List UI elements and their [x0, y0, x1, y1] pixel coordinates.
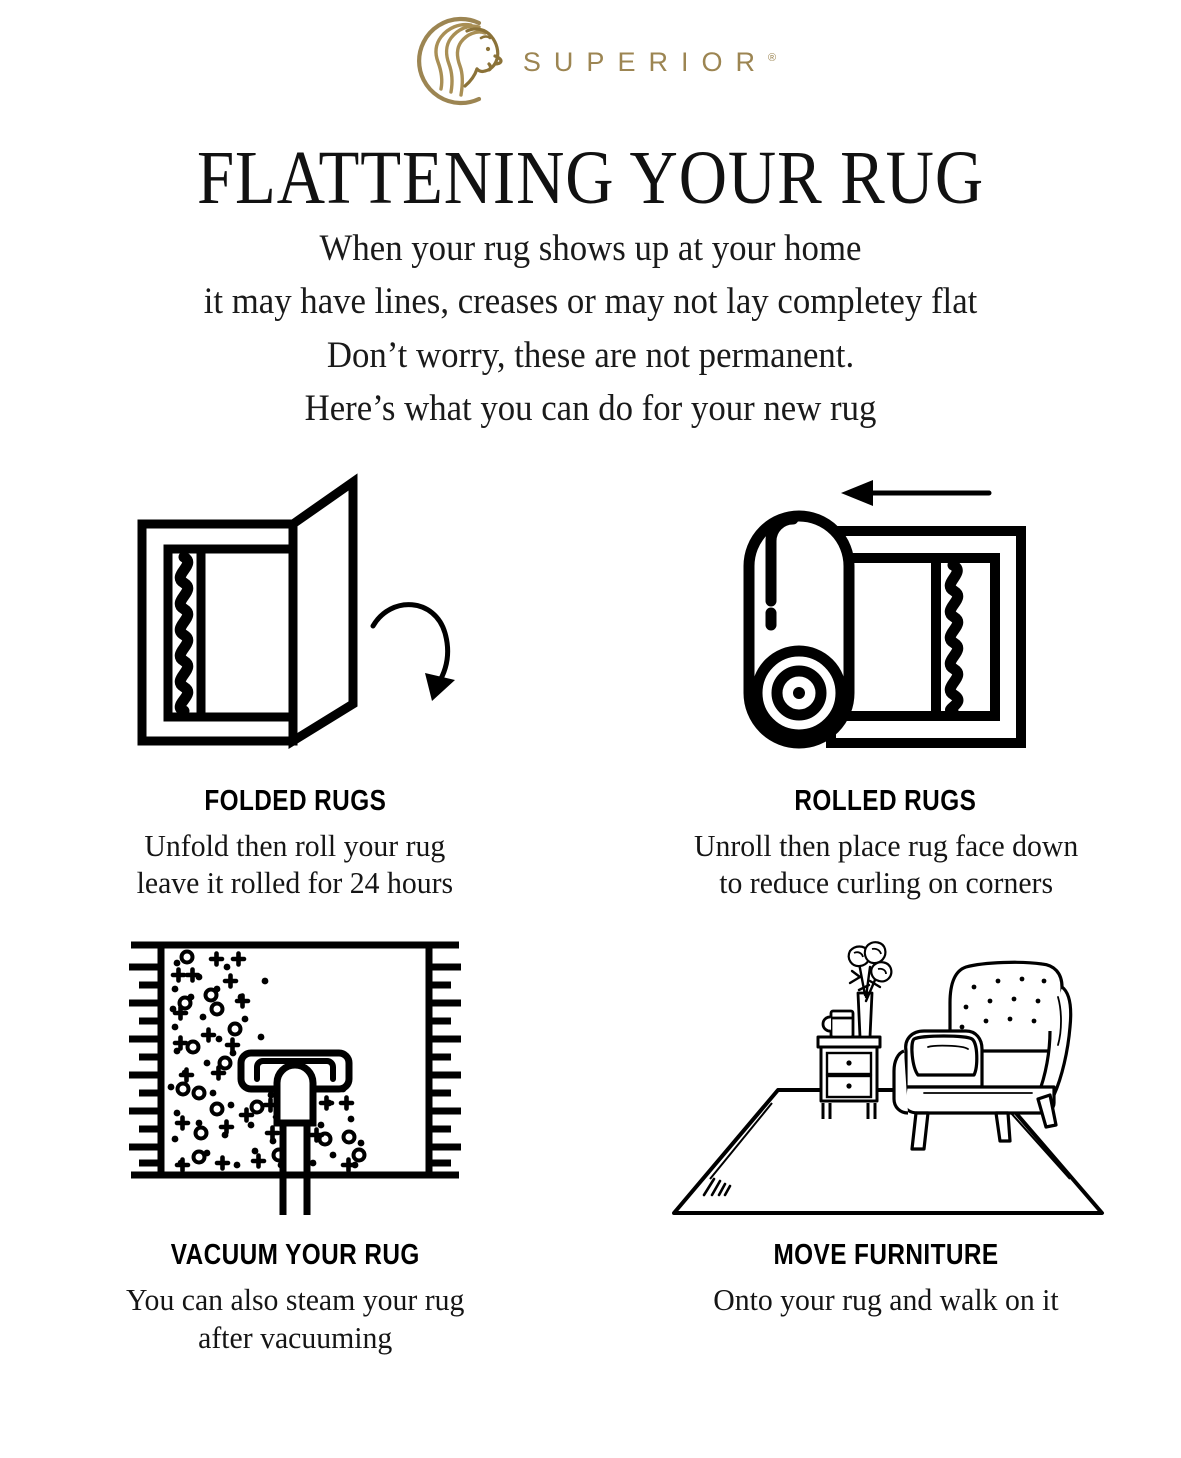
brand-wordmark: SUPERIOR®	[523, 47, 776, 78]
tip-card-folded-rugs: FOLDED RUGS Unfold then roll your rug le…	[0, 461, 591, 901]
furniture-on-rug-illustration	[666, 927, 1106, 1227]
vacuum-rug-illustration	[115, 927, 475, 1227]
tip-card-move-furniture: MOVE FURNITURE Onto your rug and walk on…	[591, 927, 1181, 1355]
tip-card-caption: Unroll then place rug face down to reduc…	[694, 827, 1078, 901]
caption-line: Unfold then roll your rug	[137, 827, 454, 864]
folded-rug-icon	[105, 461, 485, 773]
registered-mark: ®	[768, 52, 776, 64]
brand-header: SUPERIOR®	[0, 0, 1181, 118]
caption-line: after vacuuming	[126, 1319, 464, 1356]
tip-card-title: MOVE FURNITURE	[773, 1239, 998, 1272]
furniture-on-rug-icon	[666, 927, 1106, 1227]
page-title: FLATTENING YOUR RUG	[71, 140, 1110, 216]
caption-line: You can also steam your rug	[126, 1281, 464, 1318]
intro-line-3: Don’t worry, these are not permanent.	[35, 329, 1145, 382]
intro-paragraph: When your rug shows up at your home it m…	[35, 222, 1145, 435]
tip-card-title: FOLDED RUGS	[204, 785, 386, 818]
intro-line-4: Here’s what you can do for your new rug	[35, 382, 1145, 435]
caption-line: Onto your rug and walk on it	[713, 1281, 1058, 1318]
folded-rug-illustration	[105, 461, 485, 773]
intro-line-2: it may have lines, creases or may not la…	[35, 275, 1145, 328]
caption-line: leave it rolled for 24 hours	[137, 864, 454, 901]
intro-line-1: When your rug shows up at your home	[35, 222, 1145, 275]
rolled-rug-illustration	[721, 461, 1051, 773]
caption-line: to reduce curling on corners	[694, 864, 1078, 901]
tip-card-title: ROLLED RUGS	[795, 785, 977, 818]
tips-grid: FOLDED RUGS Unfold then roll your rug le…	[0, 461, 1181, 1356]
lion-head-circle-icon	[405, 9, 509, 113]
brand-wordmark-text: SUPERIOR	[523, 47, 768, 77]
tip-card-caption: Onto your rug and walk on it	[713, 1281, 1058, 1318]
tip-card-caption: You can also steam your rug after vacuum…	[126, 1281, 464, 1355]
vacuum-rug-icon	[115, 927, 475, 1227]
rolled-rug-icon	[721, 461, 1051, 773]
caption-line: Unroll then place rug face down	[694, 827, 1078, 864]
tip-card-caption: Unfold then roll your rug leave it rolle…	[137, 827, 454, 901]
tip-card-vacuum-rug: VACUUM YOUR RUG You can also steam your …	[0, 927, 591, 1355]
tip-card-rolled-rugs: ROLLED RUGS Unroll then place rug face d…	[591, 461, 1181, 901]
tip-card-title: VACUUM YOUR RUG	[171, 1239, 420, 1272]
